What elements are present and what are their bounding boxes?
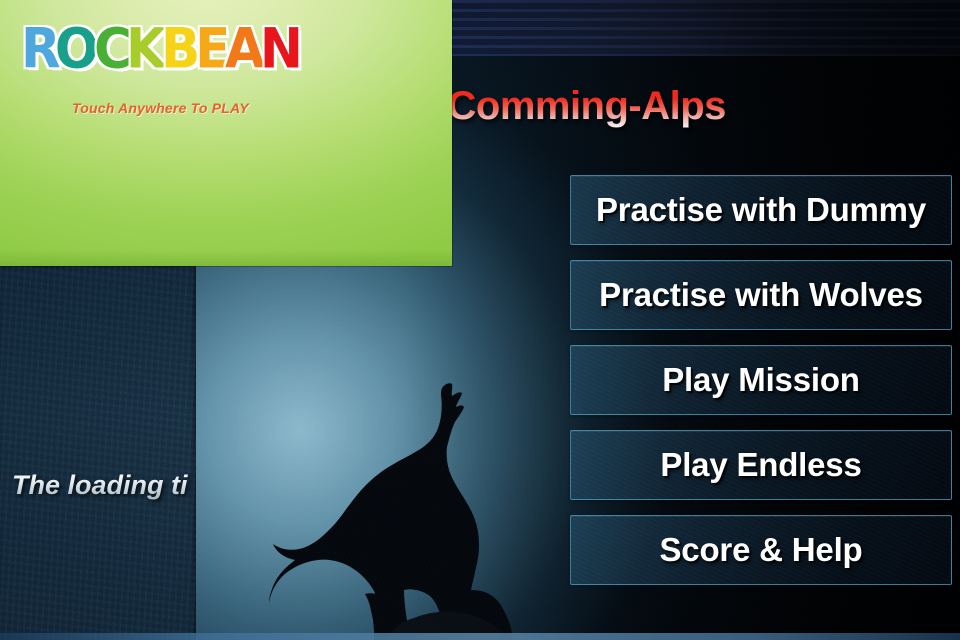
- menu-button-play-mission[interactable]: Play Mission: [570, 345, 952, 415]
- rockbean-logo-letter-a-6: A: [225, 16, 262, 80]
- menu-button-practise-dummy[interactable]: Practise with Dummy: [570, 175, 952, 245]
- menu-button-label: Play Mission: [662, 361, 860, 399]
- rockbean-logo-letter-b-4: B: [161, 16, 197, 80]
- loading-tip-text: The loading ti: [12, 470, 188, 501]
- rockbean-logo: ROCKBEAN: [22, 17, 299, 80]
- background-left-panel: [0, 266, 196, 640]
- rockbean-splash-overlay[interactable]: ROCKBEAN Touch Anywhere To PLAY: [0, 0, 452, 266]
- game-screen: esComming-Alps The loading ti Practise w…: [0, 0, 960, 640]
- menu-button-label: Practise with Wolves: [599, 276, 923, 314]
- main-menu: Practise with Dummy Practise with Wolves…: [570, 175, 952, 600]
- menu-button-label: Score & Help: [660, 531, 863, 569]
- rockbean-logo-letter-c-2: C: [94, 16, 129, 80]
- rockbean-logo-letter-o-1: O: [55, 16, 96, 80]
- rockbean-logo-letter-n-7: N: [260, 16, 300, 80]
- background-bottom-strip: [0, 633, 960, 640]
- rockbean-logo-letter-e-5: E: [195, 16, 227, 80]
- menu-button-play-endless[interactable]: Play Endless: [570, 430, 952, 500]
- rockbean-logo-letter-r-0: R: [21, 16, 57, 80]
- menu-button-score-help[interactable]: Score & Help: [570, 515, 952, 585]
- game-title: esComming-Alps: [404, 84, 726, 129]
- rockbean-logo-letter-k-3: K: [126, 16, 163, 80]
- menu-button-label: Play Endless: [660, 446, 861, 484]
- menu-button-label: Practise with Dummy: [596, 191, 926, 229]
- splash-tagline: Touch Anywhere To PLAY: [72, 100, 249, 116]
- menu-button-practise-wolves[interactable]: Practise with Wolves: [570, 260, 952, 330]
